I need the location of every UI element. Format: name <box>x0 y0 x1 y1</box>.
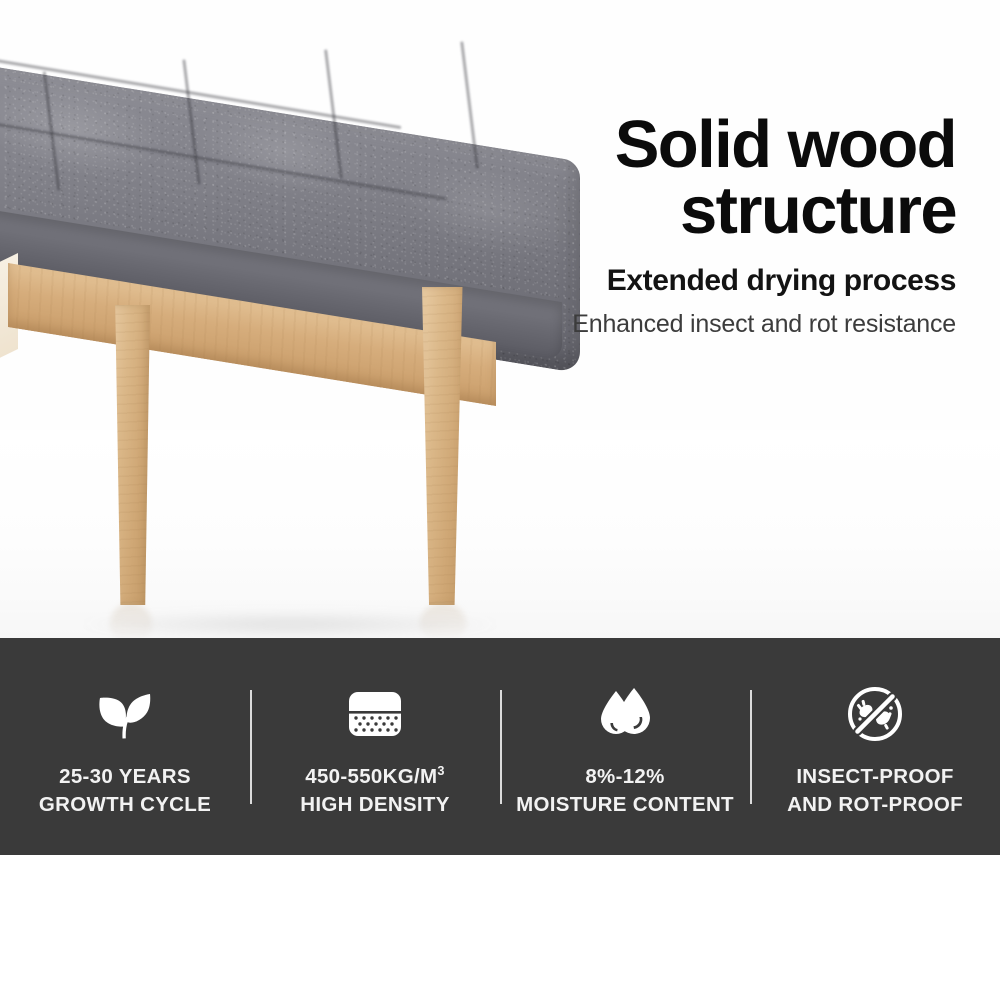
density-value: 450-550KG/M <box>305 765 437 788</box>
density-block-icon <box>345 679 405 749</box>
bench-product-photo <box>0 55 600 615</box>
feature-line-2: HIGH DENSITY <box>300 791 449 818</box>
feature-text: INSECT-PROOF AND ROT-PROOF <box>787 763 963 818</box>
hero-product-image: Solid wood structure Extended drying pro… <box>0 0 1000 638</box>
bench-leg-back <box>422 287 466 605</box>
headline-block: Solid wood structure Extended drying pro… <box>526 112 956 339</box>
feature-text: 8%-12% MOISTURE CONTENT <box>516 763 734 818</box>
feature-item-high-density: 450-550KG/M3 HIGH DENSITY <box>250 638 500 855</box>
leg-reflection <box>110 603 152 638</box>
feature-line-2: GROWTH CYCLE <box>39 791 211 818</box>
supporting-text: Enhanced insect and rot resistance <box>526 310 956 339</box>
feature-line-1: INSECT-PROOF <box>787 763 963 790</box>
page-title: Solid wood structure <box>526 112 956 243</box>
feature-text: 25-30 YEARS GROWTH CYCLE <box>39 763 211 818</box>
feature-bar: 25-30 YEARS GROWTH CYCLE <box>0 638 1000 855</box>
feature-text: 450-550KG/M3 HIGH DENSITY <box>300 763 449 818</box>
feature-line-1: 8%-12% <box>516 763 734 790</box>
product-feature-banner: Solid wood structure Extended drying pro… <box>0 0 1000 1000</box>
bench-leg-front <box>110 305 150 605</box>
feature-item-moisture-content: 8%-12% MOISTURE CONTENT <box>500 638 750 855</box>
feature-item-insect-rot-proof: INSECT-PROOF AND ROT-PROOF <box>750 638 1000 855</box>
feature-line-2: MOISTURE CONTENT <box>516 791 734 818</box>
feature-list: 25-30 YEARS GROWTH CYCLE <box>0 638 1000 855</box>
cubic-superscript: 3 <box>437 763 444 778</box>
bench-seat-cushion <box>0 55 590 305</box>
feature-line-1: 450-550KG/M3 <box>300 763 449 790</box>
no-insect-icon <box>845 679 905 749</box>
leaf-sprout-icon <box>94 679 156 749</box>
feature-line-1: 25-30 YEARS <box>39 763 211 790</box>
water-droplets-icon <box>594 679 656 749</box>
feature-line-2: AND ROT-PROOF <box>787 791 963 818</box>
leg-reflection <box>420 603 466 638</box>
subheading: Extended drying process <box>526 264 956 298</box>
feature-item-growth-cycle: 25-30 YEARS GROWTH CYCLE <box>0 638 250 855</box>
